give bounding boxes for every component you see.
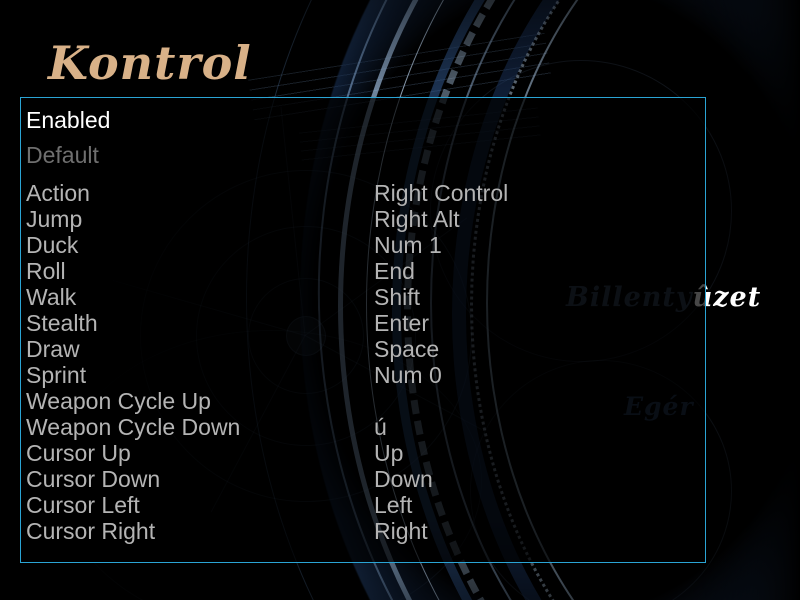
page-title: Kontrol bbox=[48, 36, 252, 90]
binding-row[interactable]: SprintNum 0 bbox=[26, 362, 701, 388]
binding-row-value[interactable]: Right Alt bbox=[374, 206, 460, 232]
binding-row-value[interactable]: Left bbox=[374, 492, 412, 518]
binding-row-value[interactable]: Right Control bbox=[374, 180, 508, 206]
binding-row-label: Cursor Right bbox=[26, 518, 155, 544]
binding-row[interactable]: Weapon Cycle Downú bbox=[26, 414, 701, 440]
binding-row-value[interactable]: ú bbox=[374, 414, 387, 440]
game-options-screen: Kontrol Billentyûzet Egér EnabledDefault… bbox=[0, 0, 800, 600]
binding-row-label: Walk bbox=[26, 284, 76, 310]
binding-row-label: Duck bbox=[26, 232, 78, 258]
binding-row-value[interactable]: Num 1 bbox=[374, 232, 442, 258]
option-row[interactable]: Enabled bbox=[26, 107, 701, 133]
binding-row-label: Cursor Up bbox=[26, 440, 131, 466]
binding-row-value[interactable]: Right bbox=[374, 518, 428, 544]
binding-row-value[interactable]: End bbox=[374, 258, 415, 284]
binding-row[interactable]: DrawSpace bbox=[26, 336, 701, 362]
binding-row[interactable]: Cursor UpUp bbox=[26, 440, 701, 466]
binding-row-label: Sprint bbox=[26, 362, 86, 388]
option-row[interactable]: Default bbox=[26, 142, 701, 168]
binding-row-value[interactable]: Shift bbox=[374, 284, 420, 310]
binding-row-value[interactable]: Enter bbox=[374, 310, 429, 336]
binding-row-label: Weapon Cycle Down bbox=[26, 414, 240, 440]
controls-list: EnabledDefaultActionRight ControlJumpRig… bbox=[21, 98, 705, 562]
binding-row[interactable]: RollEnd bbox=[26, 258, 701, 284]
binding-row-label: Weapon Cycle Up bbox=[26, 388, 211, 414]
binding-row-label: Cursor Left bbox=[26, 492, 140, 518]
binding-row[interactable]: Cursor RightRight bbox=[26, 518, 701, 544]
binding-row-label: Draw bbox=[26, 336, 80, 362]
controls-panel: EnabledDefaultActionRight ControlJumpRig… bbox=[20, 97, 706, 563]
binding-row-label: Action bbox=[26, 180, 90, 206]
binding-row[interactable]: JumpRight Alt bbox=[26, 206, 701, 232]
binding-row-value[interactable]: Num 0 bbox=[374, 362, 442, 388]
binding-row-value[interactable]: Up bbox=[374, 440, 403, 466]
binding-row-label: Roll bbox=[26, 258, 66, 284]
option-row-label: Enabled bbox=[26, 107, 110, 133]
binding-row-label: Stealth bbox=[26, 310, 98, 336]
binding-row[interactable]: Cursor DownDown bbox=[26, 466, 701, 492]
binding-row[interactable]: Weapon Cycle Up bbox=[26, 388, 701, 414]
binding-row[interactable]: Cursor LeftLeft bbox=[26, 492, 701, 518]
binding-row-label: Jump bbox=[26, 206, 82, 232]
option-row-label: Default bbox=[26, 142, 99, 168]
binding-row[interactable]: WalkShift bbox=[26, 284, 701, 310]
binding-row[interactable]: DuckNum 1 bbox=[26, 232, 701, 258]
binding-row-value[interactable]: Space bbox=[374, 336, 439, 362]
binding-row[interactable]: ActionRight Control bbox=[26, 180, 701, 206]
binding-row-label: Cursor Down bbox=[26, 466, 160, 492]
binding-row-value[interactable]: Down bbox=[374, 466, 433, 492]
binding-row[interactable]: StealthEnter bbox=[26, 310, 701, 336]
